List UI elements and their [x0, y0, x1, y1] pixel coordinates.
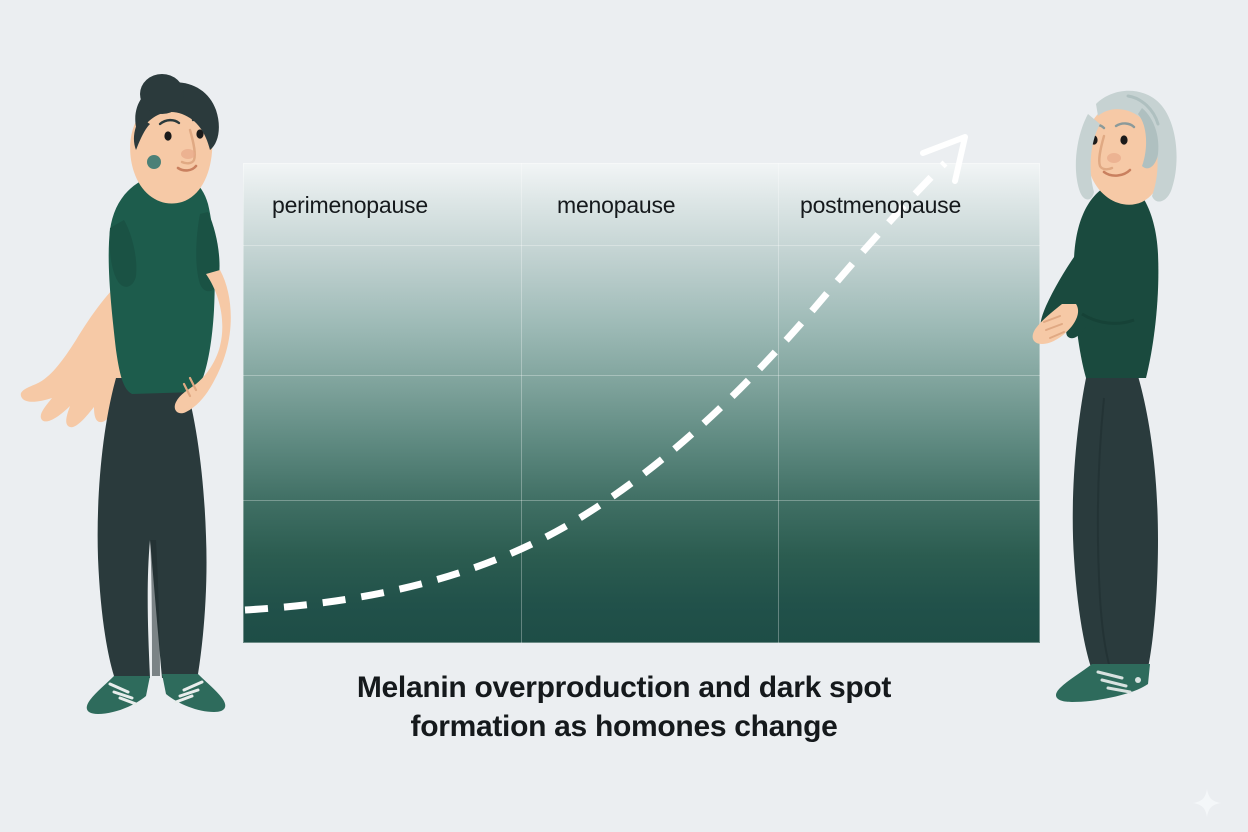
- lips-highlight: [1107, 153, 1121, 163]
- phase-label-postmenopause: postmenopause: [800, 192, 961, 219]
- hair-bun: [140, 74, 184, 114]
- character-older-woman: [1042, 78, 1248, 688]
- eye-left: [164, 131, 171, 140]
- curve-arrowhead-icon: [923, 137, 965, 181]
- chart-panel: [243, 163, 1040, 643]
- phase-label-menopause: menopause: [557, 192, 675, 219]
- sparkle-icon: [1192, 788, 1222, 818]
- lips-highlight: [181, 149, 195, 159]
- curve-dashed-path: [245, 163, 945, 610]
- earring-icon: [147, 155, 161, 169]
- pants: [1073, 376, 1158, 670]
- infographic-canvas: perimenopause menopause postmenopause Me…: [0, 0, 1248, 832]
- caption-line-2: formation as homones change: [0, 707, 1248, 746]
- eye-right: [1120, 135, 1127, 144]
- character-younger-woman: [10, 78, 310, 698]
